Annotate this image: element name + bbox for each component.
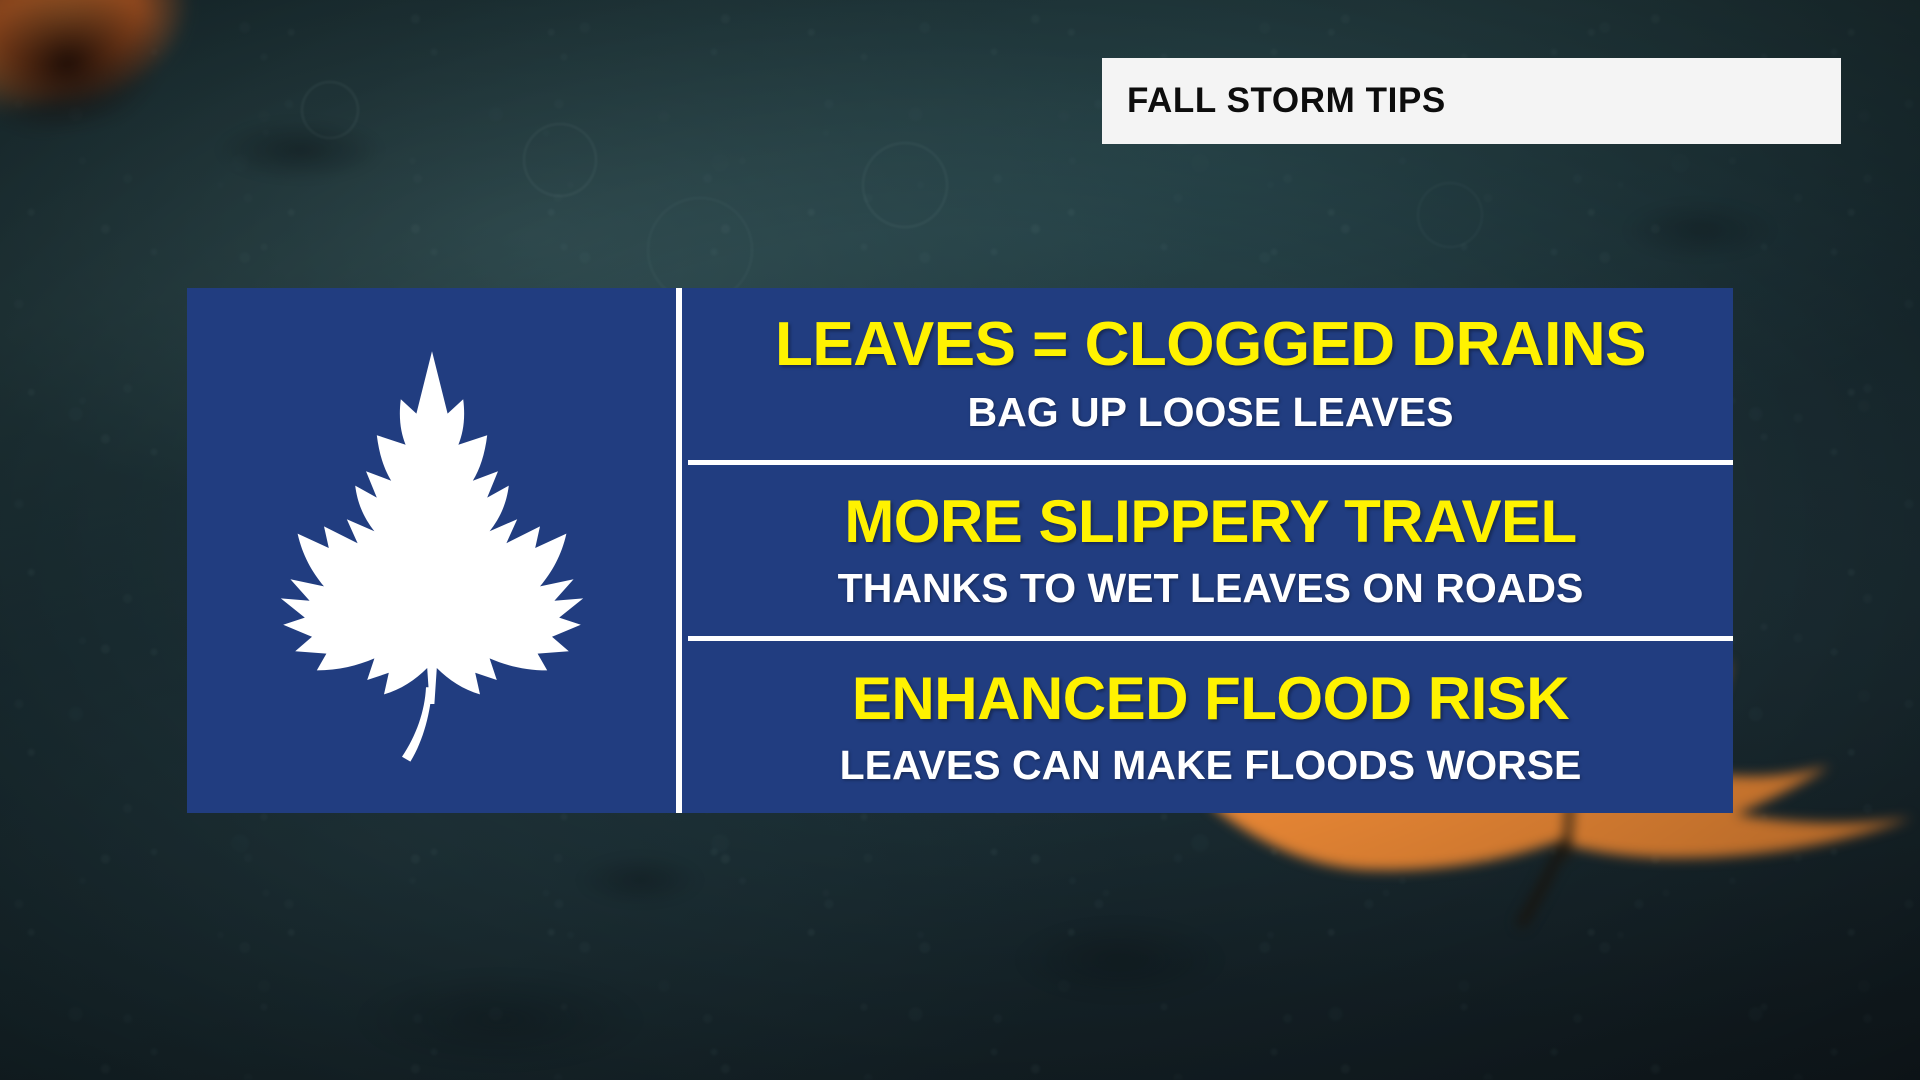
- tip-row-1: LEAVES = CLOGGED DRAINS BAG UP LOOSE LEA…: [688, 288, 1733, 460]
- panel-icon-area: [187, 288, 676, 813]
- fall-storm-tips-panel: LEAVES = CLOGGED DRAINS BAG UP LOOSE LEA…: [187, 288, 1733, 813]
- header-title-bar: FALL STORM TIPS: [1102, 58, 1841, 144]
- maple-leaf-icon: [252, 344, 612, 764]
- tip-heading-3: ENHANCED FLOOD RISK: [852, 669, 1569, 729]
- page-title: FALL STORM TIPS: [1102, 81, 1446, 121]
- tip-subtext-2: THANKS TO WET LEAVES ON ROADS: [838, 568, 1584, 609]
- tip-subtext-1: BAG UP LOOSE LEAVES: [967, 392, 1453, 433]
- tip-row-3: ENHANCED FLOOD RISK LEAVES CAN MAKE FLOO…: [688, 636, 1733, 813]
- tip-heading-2: MORE SLIPPERY TRAVEL: [844, 492, 1576, 552]
- tips-list: LEAVES = CLOGGED DRAINS BAG UP LOOSE LEA…: [682, 288, 1733, 813]
- tip-subtext-3: LEAVES CAN MAKE FLOODS WORSE: [840, 745, 1582, 786]
- tip-heading-1: LEAVES = CLOGGED DRAINS: [775, 314, 1646, 376]
- tip-row-2: MORE SLIPPERY TRAVEL THANKS TO WET LEAVE…: [688, 460, 1733, 637]
